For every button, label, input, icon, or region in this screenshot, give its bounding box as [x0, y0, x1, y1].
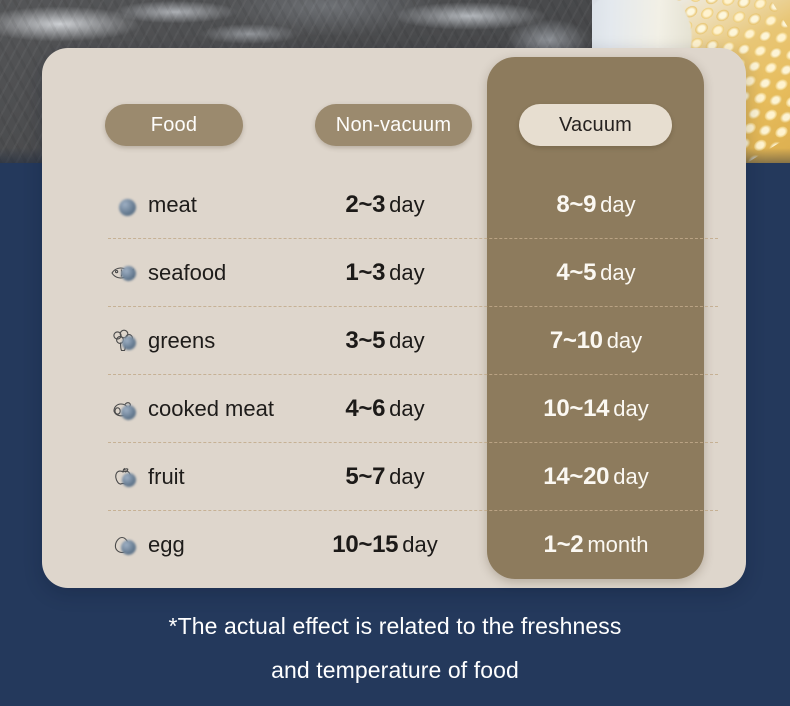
- vacuum-cell: 10~14 day: [490, 375, 702, 443]
- non-vacuum-value: 4~6: [345, 395, 385, 423]
- vacuum-value: 4~5: [556, 259, 596, 287]
- food-cell: cooked meat: [108, 375, 274, 443]
- table-row: cooked meat 4~6 day 10~14 day: [42, 375, 746, 443]
- table-row: meat 2~3 day 8~9 day: [42, 171, 746, 239]
- non-vacuum-unit: day: [389, 464, 424, 490]
- vacuum-cell: 8~9 day: [490, 171, 702, 239]
- table-row: egg 10~15 day 1~2 month: [42, 511, 746, 579]
- non-vacuum-value: 2~3: [345, 191, 385, 219]
- comparison-card: Food Non-vacuum Vacuum meat 2~3: [42, 48, 746, 588]
- header-vacuum: Vacuum: [519, 104, 672, 146]
- food-cell: meat: [108, 171, 197, 239]
- food-label: fruit: [148, 464, 185, 490]
- vacuum-unit: day: [613, 396, 648, 422]
- table-header-row: Food Non-vacuum Vacuum: [42, 104, 746, 148]
- vacuum-unit: day: [607, 328, 642, 354]
- header-vacuum-label: Vacuum: [559, 114, 632, 137]
- apple-icon: [108, 462, 138, 492]
- food-label: greens: [148, 328, 215, 354]
- vacuum-unit: day: [600, 260, 635, 286]
- non-vacuum-cell: 4~6 day: [290, 375, 480, 443]
- header-food: Food: [105, 104, 243, 146]
- non-vacuum-cell: 10~15 day: [290, 511, 480, 579]
- non-vacuum-unit: day: [389, 328, 424, 354]
- fish-icon: [108, 258, 138, 288]
- vacuum-value: 8~9: [556, 191, 596, 219]
- header-non-vacuum: Non-vacuum: [315, 104, 472, 146]
- non-vacuum-value: 3~5: [345, 327, 385, 355]
- table-row: greens 3~5 day 7~10 day: [42, 307, 746, 375]
- non-vacuum-cell: 3~5 day: [290, 307, 480, 375]
- non-vacuum-unit: day: [389, 260, 424, 286]
- food-label: egg: [148, 532, 185, 558]
- vacuum-value: 10~14: [543, 395, 609, 423]
- vacuum-cell: 1~2 month: [490, 511, 702, 579]
- food-cell: greens: [108, 307, 215, 375]
- food-label: seafood: [148, 260, 226, 286]
- vacuum-value: 7~10: [550, 327, 603, 355]
- egg-icon: [108, 530, 138, 560]
- non-vacuum-cell: 1~3 day: [290, 239, 480, 307]
- vacuum-cell: 7~10 day: [490, 307, 702, 375]
- ham-icon: [108, 394, 138, 424]
- vacuum-cell: 4~5 day: [490, 239, 702, 307]
- header-food-label: Food: [151, 114, 197, 137]
- non-vacuum-unit: day: [389, 192, 424, 218]
- vacuum-unit: day: [600, 192, 635, 218]
- food-label: meat: [148, 192, 197, 218]
- vacuum-value: 14~20: [543, 463, 609, 491]
- promo-graphic: Food Non-vacuum Vacuum meat 2~3: [0, 0, 790, 706]
- table-row: seafood 1~3 day 4~5 day: [42, 239, 746, 307]
- footnote-line-2: and temperature of food: [0, 648, 790, 692]
- non-vacuum-value: 1~3: [345, 259, 385, 287]
- table-body: meat 2~3 day 8~9 day: [42, 171, 746, 579]
- food-cell: egg: [108, 511, 185, 579]
- meat-icon: [108, 190, 138, 220]
- vacuum-value: 1~2: [544, 531, 584, 559]
- food-label: cooked meat: [148, 396, 274, 422]
- non-vacuum-cell: 5~7 day: [290, 443, 480, 511]
- non-vacuum-unit: day: [402, 532, 437, 558]
- broccoli-icon: [108, 326, 138, 356]
- food-cell: seafood: [108, 239, 226, 307]
- vacuum-cell: 14~20 day: [490, 443, 702, 511]
- footnote-line-1: *The actual effect is related to the fre…: [0, 604, 790, 648]
- non-vacuum-value: 10~15: [332, 531, 398, 559]
- non-vacuum-cell: 2~3 day: [290, 171, 480, 239]
- non-vacuum-unit: day: [389, 396, 424, 422]
- food-cell: fruit: [108, 443, 185, 511]
- vacuum-unit: day: [613, 464, 648, 490]
- header-non-vacuum-label: Non-vacuum: [336, 114, 451, 137]
- non-vacuum-value: 5~7: [345, 463, 385, 491]
- footnote: *The actual effect is related to the fre…: [0, 604, 790, 692]
- table-row: fruit 5~7 day 14~20 day: [42, 443, 746, 511]
- vacuum-unit: month: [587, 532, 648, 558]
